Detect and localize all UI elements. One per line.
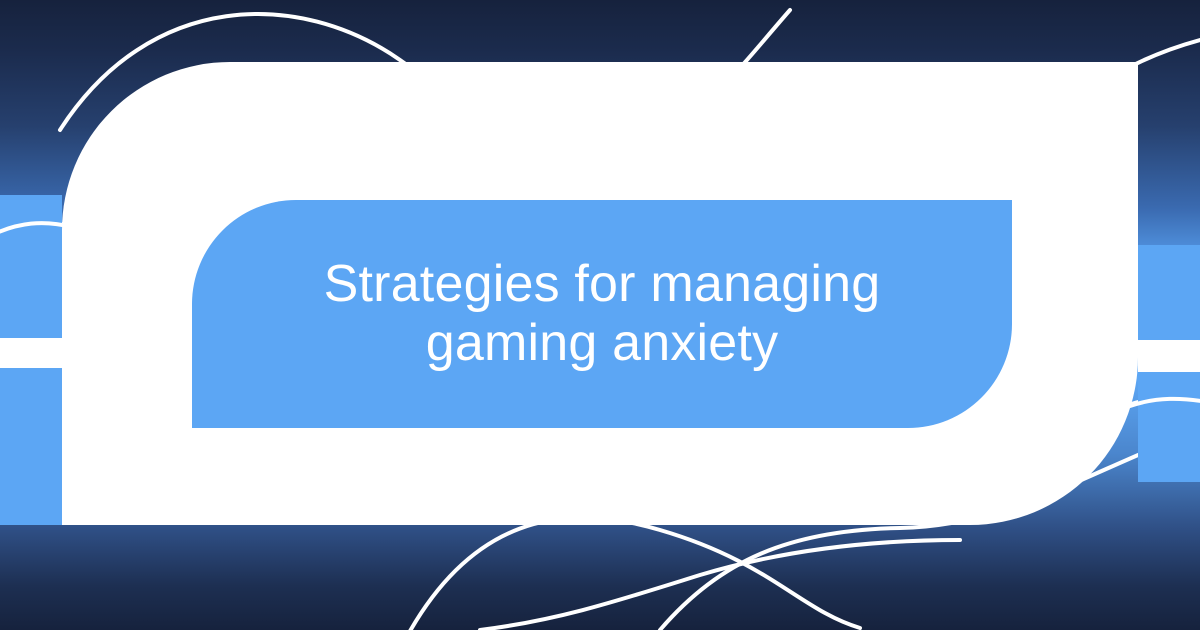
right-edge-band-bottom (1138, 372, 1200, 482)
bottom-wave-line (405, 518, 860, 630)
share-card-canvas: Strategies for managing gaming anxiety (0, 0, 1200, 630)
left-edge-band-top (0, 195, 62, 338)
page-title: Strategies for managing gaming anxiety (282, 255, 922, 374)
right-edge-gap (1138, 340, 1200, 372)
bottom-left-wave-line (480, 540, 960, 630)
left-edge-gap (0, 338, 62, 368)
left-edge-band-bottom (0, 368, 62, 525)
left-edge-column (0, 0, 62, 630)
content-card: Strategies for managing gaming anxiety (62, 62, 1138, 525)
headline-panel: Strategies for managing gaming anxiety (192, 200, 1012, 428)
right-edge-band-top (1138, 245, 1200, 340)
right-edge-column (1138, 0, 1200, 630)
